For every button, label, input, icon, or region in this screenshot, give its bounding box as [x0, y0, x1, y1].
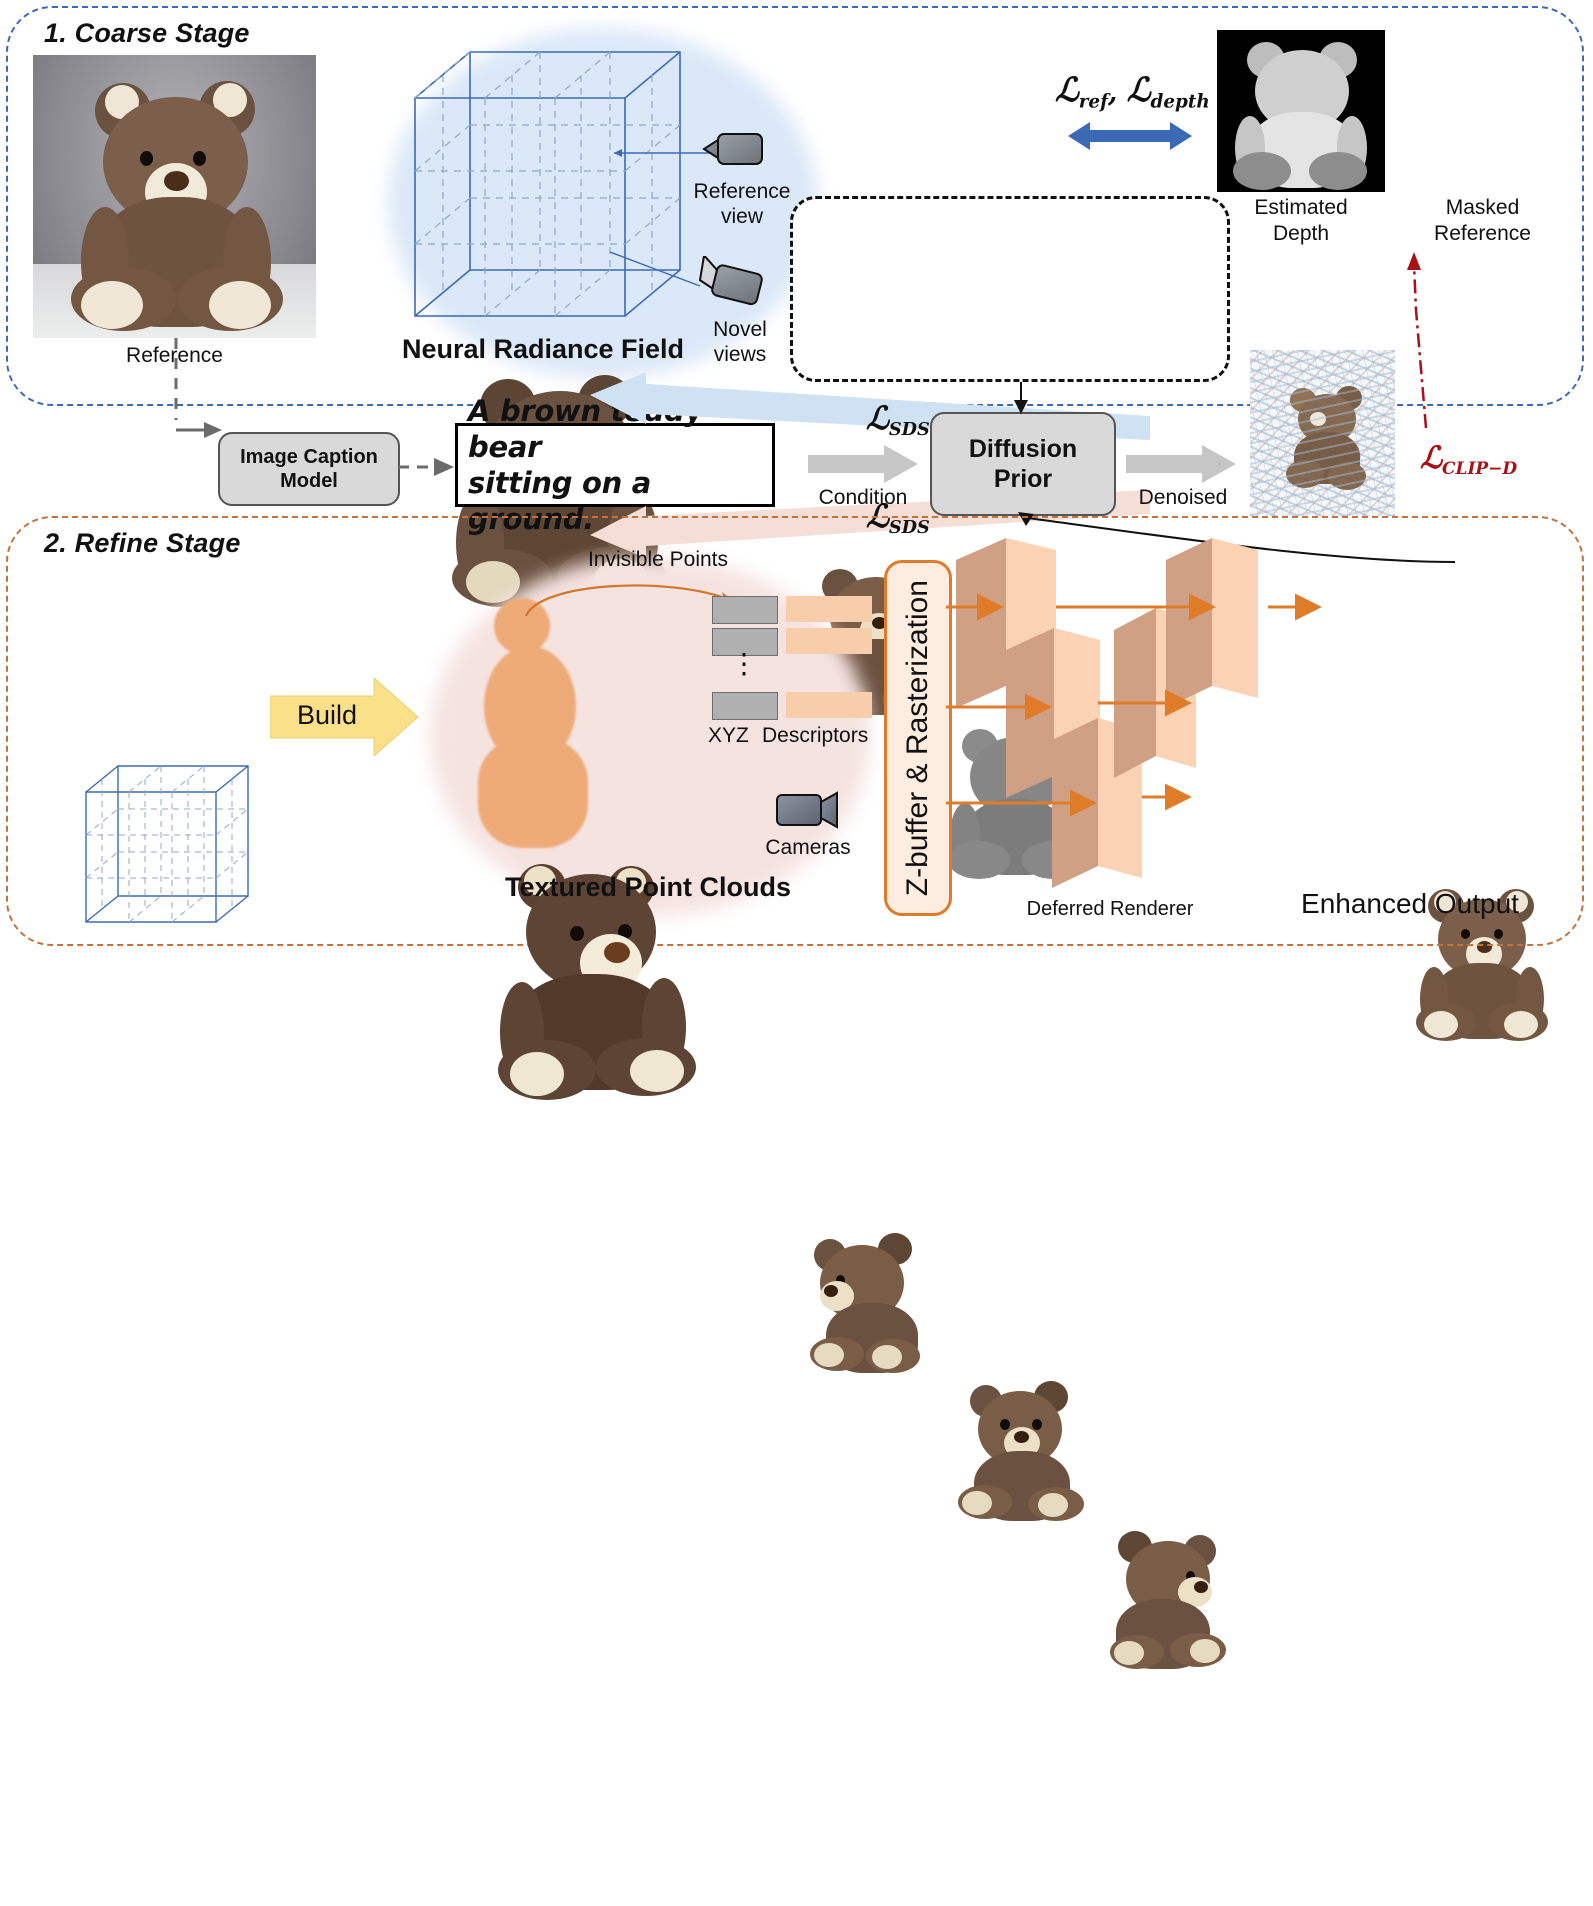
diffusion-prior-line1: Diffusion: [969, 434, 1077, 464]
novel-views-box: [790, 196, 1230, 382]
build-label: Build: [272, 700, 382, 731]
denoised-arrow: [1126, 445, 1236, 483]
camera-icon: [775, 790, 841, 832]
refine-stage-title: 2. Refine Stage: [44, 528, 241, 559]
masked-reference-label-1: Masked: [1400, 196, 1565, 220]
estimated-depth-label-2: Depth: [1210, 222, 1392, 246]
novel-view-bear: [806, 1231, 936, 1379]
caption-model-line2: Model: [240, 469, 378, 493]
reference-view-label-2: view: [692, 205, 792, 229]
refine-nerf-cube-icon: [80, 760, 255, 928]
novelviews-to-diffusion-arrow: [1006, 382, 1036, 416]
masked-reference-label-2: Reference: [1400, 222, 1565, 246]
novel-views-label-2: views: [692, 343, 788, 367]
caption-model-line1: Image Caption: [240, 445, 378, 469]
renderer-flow-arrows: [946, 555, 1366, 915]
diffusion-prior-line2: Prior: [969, 464, 1077, 494]
loss-ref-sub: ref: [1079, 91, 1108, 112]
descriptor-ellipsis: ⋮: [712, 656, 776, 673]
descriptor-bar: [786, 596, 872, 622]
coarse-stage-title: 1. Coarse Stage: [44, 18, 250, 49]
sds-sub-top: SDS: [889, 419, 930, 440]
camera-icon: [702, 128, 768, 172]
estimated-depth-label-1: Estimated: [1210, 196, 1392, 220]
invisible-points-label: Invisible Points: [548, 548, 768, 572]
descriptor-bar: [786, 628, 872, 654]
condition-label: Condition: [800, 486, 926, 510]
loss-ref-depth: ℒref, ℒdepth: [1055, 70, 1210, 112]
estimated-depth-image: [1217, 30, 1385, 192]
noisy-denoised-image: [1250, 350, 1395, 516]
descriptors-label: Descriptors: [762, 724, 902, 748]
condition-arrow: [808, 445, 918, 483]
camera-icon: [694, 256, 770, 312]
clip-d-sub: CLIP−D: [1442, 459, 1517, 479]
clip-d-loss: ℒCLIP−D: [1420, 440, 1517, 479]
xyz-block: [712, 692, 778, 720]
nerf-label: Neural Radiance Field: [398, 334, 688, 365]
descriptor-bar: [786, 692, 872, 718]
reference-view-label-1: Reference: [692, 180, 792, 204]
clip-loss-arrow: [1392, 250, 1452, 430]
loss-depth-sub: depth: [1151, 91, 1210, 112]
deferred-renderer-label: Deferred Renderer: [1000, 898, 1220, 920]
zbuffer-rasterization-box[interactable]: Z-buffer & Rasterization: [884, 560, 952, 916]
double-headed-arrow-icon: [1068, 118, 1192, 154]
image-caption-model-box[interactable]: Image Caption Model: [218, 432, 400, 506]
novel-views-label-1: Novel: [692, 318, 788, 342]
cameras-label: Cameras: [748, 836, 868, 860]
point-cloud-label: Textured Point Clouds: [448, 872, 848, 903]
caption-to-prompt-arrow: [398, 452, 462, 482]
reference-image: [33, 55, 316, 338]
zbuffer-label: Z-buffer & Rasterization: [901, 580, 935, 896]
novel-view-bear: [1100, 1527, 1230, 1677]
xyz-block: [712, 596, 778, 624]
enhanced-output-label: Enhanced Output: [1240, 888, 1580, 920]
novel-view-bear: [956, 1377, 1086, 1527]
sds-loss-top: ℒSDS: [866, 400, 930, 440]
